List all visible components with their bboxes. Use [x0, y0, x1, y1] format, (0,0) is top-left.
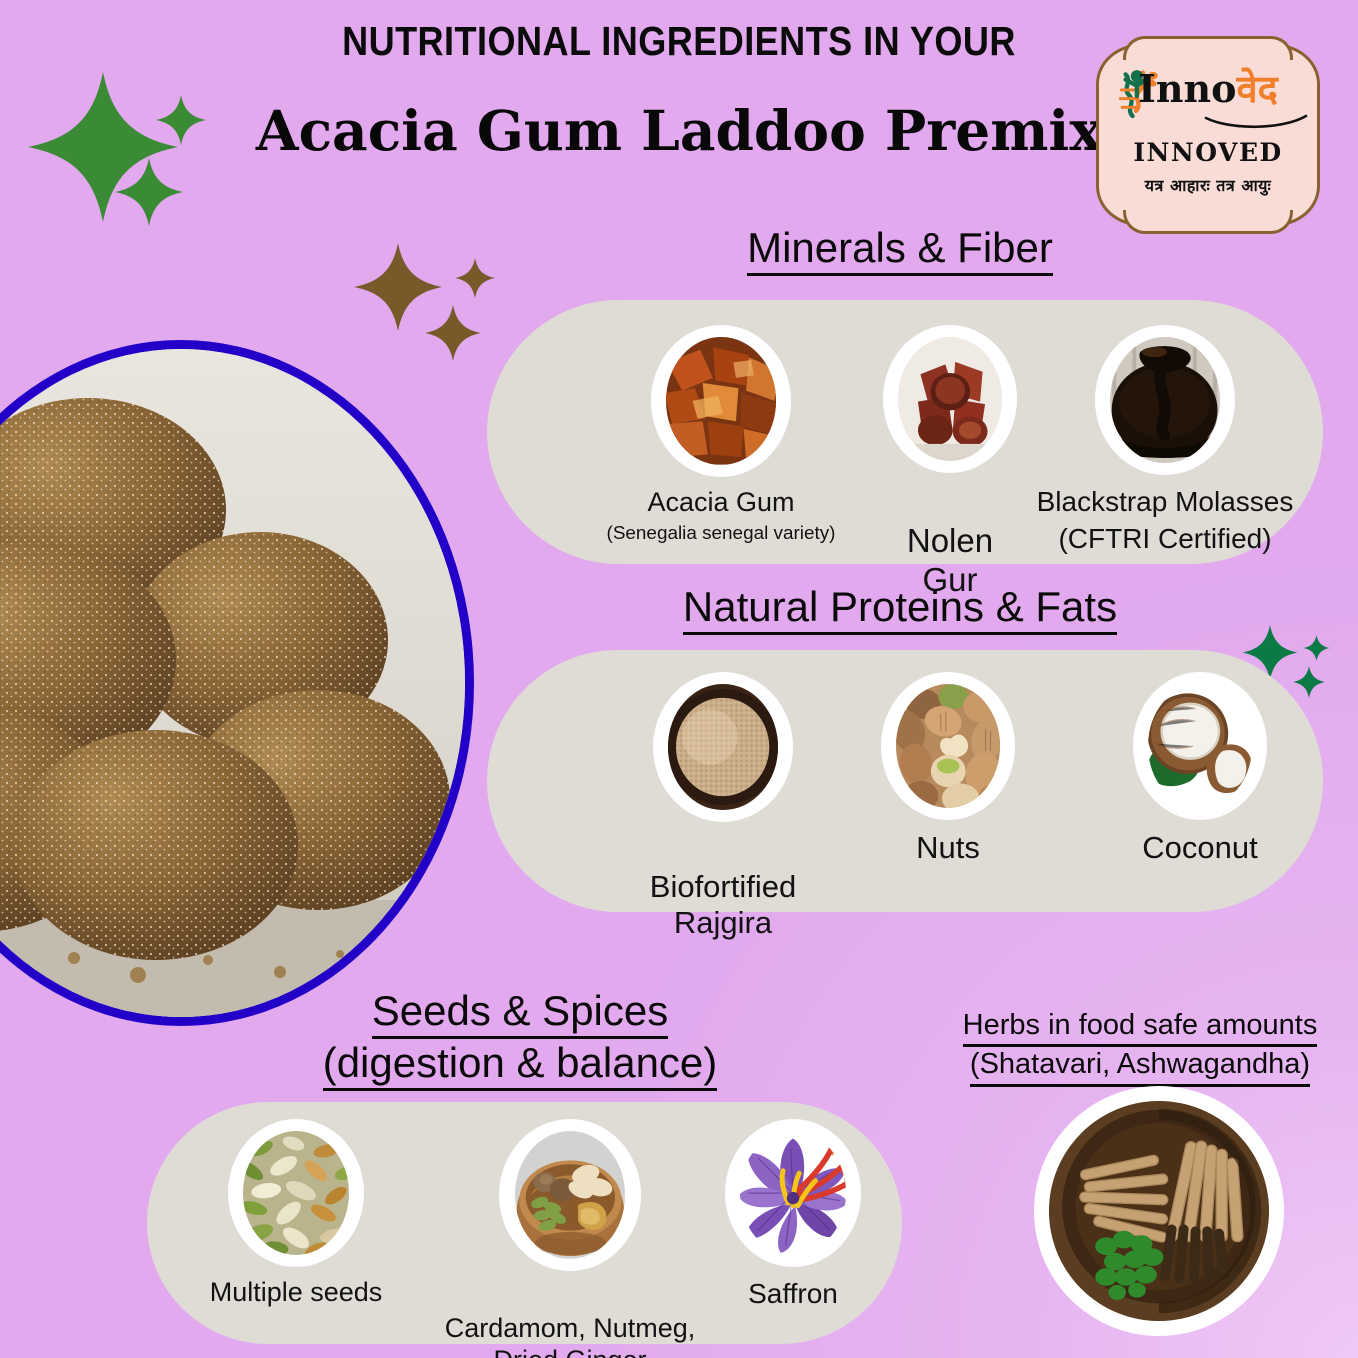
nuts-label: Nuts	[916, 830, 980, 865]
acacia-gum-sublabel: (Senegalia senegal variety)	[575, 523, 867, 545]
logo-tagline: यत्र आहारः तत्र आयुः	[1096, 174, 1320, 196]
section-heading-proteins: Natural Proteins & Fats	[520, 583, 1280, 635]
multiple-seeds-caption: Multiple seeds	[196, 1277, 396, 1309]
ingredient-coconut: Coconut	[1110, 672, 1290, 867]
ingredient-spices: Cardamom, Nutmeg, Dried Ginger	[425, 1119, 715, 1358]
acacia-gum-caption: Acacia Gum (Senegalia senegal variety)	[575, 487, 867, 545]
spices-caption: Cardamom, Nutmeg, Dried Ginger	[425, 1281, 715, 1358]
molasses-sublabel: (CFTRI Certified)	[1020, 522, 1310, 555]
sparkle-darkgreen-medium-icon	[1292, 666, 1326, 698]
herbs-bowl-circle	[1034, 1086, 1284, 1336]
nuts-bubble	[881, 672, 1015, 820]
logo-swoosh-icon	[1204, 114, 1308, 130]
logo-word-inno: Inno	[1138, 66, 1236, 111]
coconut-photo	[1148, 684, 1253, 808]
saffron-flower-illustration	[740, 1131, 846, 1255]
spice-bowl-photo	[515, 1131, 626, 1259]
section-heading-herbs-line2: (Shatavari, Ashwagandha)	[970, 1047, 1310, 1086]
section-heading-minerals: Minerals & Fiber	[520, 224, 1280, 276]
ingredient-multiple-seeds: Multiple seeds	[196, 1119, 396, 1309]
ingredient-blackstrap-molasses: Blackstrap Molasses (CFTRI Certified)	[1020, 325, 1310, 555]
acacia-gum-bubble	[651, 325, 791, 477]
brand-logo: Innoवेद INNOVED यत्र आहारः तत्र आयुः	[1096, 44, 1320, 226]
section-heading-seeds: Seeds & Spices (digestion & balance)	[150, 987, 890, 1091]
saffron-caption: Saffron	[718, 1277, 868, 1310]
herb-roots-bowl-photo	[1049, 1101, 1269, 1321]
nolen-gur-bubble	[883, 325, 1017, 473]
sparkle-gold-small-icon	[455, 258, 495, 298]
sparkle-darkgreen-small-icon	[1303, 635, 1330, 661]
rajgira-bubble	[653, 672, 793, 822]
section-heading-herbs: Herbs in food safe amounts (Shatavari, A…	[930, 1008, 1350, 1087]
mixed-nuts-photo	[896, 684, 1001, 808]
logo-brand-name: INNOVED	[1096, 138, 1320, 167]
acacia-gum-label: Acacia Gum	[647, 487, 794, 517]
molasses-label: Blackstrap Molasses	[1037, 486, 1294, 517]
section-heading-herbs-line1: Herbs in food safe amounts	[963, 1008, 1318, 1047]
ingredient-saffron: Saffron	[718, 1119, 868, 1310]
multiple-seeds-label: Multiple seeds	[210, 1277, 383, 1307]
spices-bubble	[499, 1119, 641, 1271]
ingredient-rajgira: Biofortified Rajgira	[578, 672, 868, 942]
saffron-label: Saffron	[748, 1278, 838, 1309]
molasses-caption: Blackstrap Molasses (CFTRI Certified)	[1020, 485, 1310, 555]
saffron-bubble	[725, 1119, 861, 1267]
rajgira-caption: Biofortified Rajgira	[578, 832, 868, 942]
multiple-seeds-bubble	[228, 1119, 364, 1267]
nuts-caption: Nuts	[868, 830, 1028, 867]
coconut-caption: Coconut	[1110, 830, 1290, 867]
infographic-canvas: NUTRITIONAL INGREDIENTS IN YOUR Acacia G…	[0, 0, 1358, 1358]
rajgira-flour-photo	[668, 684, 777, 810]
blackstrap-molasses-photo	[1110, 337, 1219, 463]
sparkle-green-medium-icon	[113, 158, 185, 226]
nolen-gur-photo	[898, 337, 1003, 461]
rajgira-label: Biofortified Rajgira	[650, 869, 796, 941]
section-heading-seeds-line1: Seeds & Spices	[372, 987, 669, 1039]
spices-label: Cardamom, Nutmeg, Dried Ginger	[445, 1313, 696, 1358]
ingredient-nuts: Nuts	[868, 672, 1028, 867]
logo-word-ved: वेद	[1237, 66, 1278, 111]
hero-product-photo	[0, 340, 474, 1026]
ingredient-nolen-gur: Nolen Gur	[855, 325, 1045, 600]
laddoo-stack-image	[0, 340, 474, 1026]
coconut-bubble	[1133, 672, 1267, 820]
coconut-label: Coconut	[1142, 830, 1257, 865]
section-heading-proteins-line1: Natural Proteins & Fats	[683, 583, 1117, 635]
ingredient-acacia-gum: Acacia Gum (Senegalia senegal variety)	[575, 325, 867, 545]
logo-wordmark: Innoवेद	[1096, 70, 1320, 108]
mixed-seeds-photo	[243, 1131, 349, 1255]
acacia-gum-photo	[666, 337, 775, 465]
section-heading-seeds-line2: (digestion & balance)	[323, 1039, 718, 1091]
section-heading-minerals-line1: Minerals & Fiber	[747, 224, 1053, 276]
molasses-bubble	[1095, 325, 1235, 475]
